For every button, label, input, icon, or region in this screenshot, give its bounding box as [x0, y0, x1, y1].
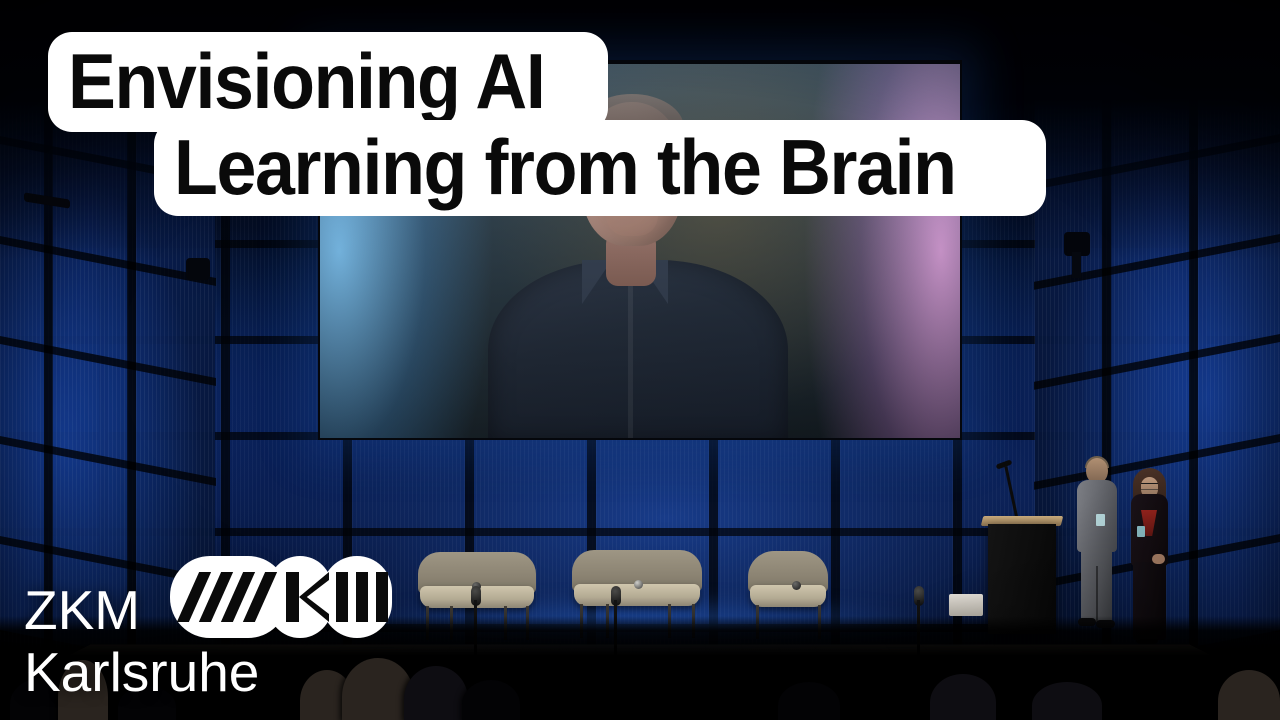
seat-back — [258, 696, 300, 720]
audience-head — [462, 680, 520, 720]
audience-head — [1032, 682, 1102, 720]
audience-head — [778, 682, 840, 720]
zkm-logo-bar — [376, 572, 388, 622]
brand-text-zkm: ZKM — [24, 583, 140, 638]
title-card-line-1: Envisioning AI — [48, 32, 608, 132]
title-card-line-2: Learning from the Brain — [154, 120, 1046, 216]
zkm-logo-bar — [356, 572, 368, 622]
audience-head — [1218, 670, 1280, 720]
zkm-logo-k-stem — [286, 572, 299, 622]
audience-head — [930, 674, 996, 720]
audience-head — [404, 666, 468, 720]
brand-text-karlsruhe: Karlsruhe — [24, 645, 259, 700]
zkm-logo-k-chevron — [299, 572, 329, 622]
zkm-logo-bar — [336, 572, 348, 622]
page-title-line-1: Envisioning AI — [68, 46, 544, 118]
zkm-logo — [170, 556, 392, 638]
zkm-logo-marks — [170, 556, 392, 638]
screenshot-root: Envisioning AI Learning from the Brain Z… — [0, 0, 1280, 720]
page-title-line-2: Learning from the Brain — [174, 132, 956, 204]
